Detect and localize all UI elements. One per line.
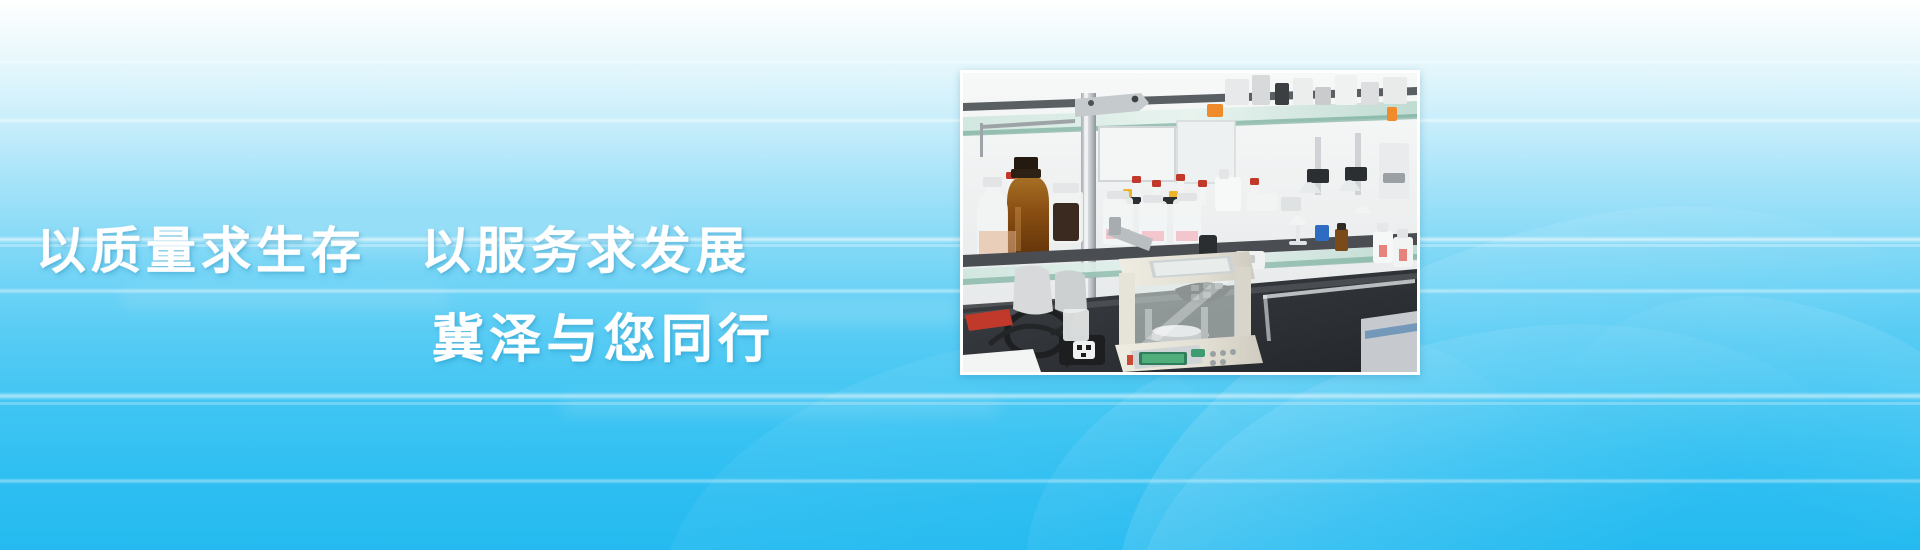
promo-banner: 以质量求生存 以服务求发展 冀泽与您同行 <box>0 0 1920 550</box>
background-stripe <box>0 392 1920 400</box>
background-glow <box>120 288 450 308</box>
slogan-line-2: 冀泽与您同行 <box>432 314 775 366</box>
background-stripe <box>0 60 1920 64</box>
background-stripe <box>0 402 1920 405</box>
background-stripe <box>0 478 1920 484</box>
laboratory-scene-illustration <box>963 73 1417 372</box>
background-wave-shape <box>1544 272 1920 550</box>
laboratory-photo-image <box>963 73 1417 372</box>
laboratory-photo <box>960 70 1420 375</box>
background-glow <box>560 395 1000 417</box>
slogan-line-1: 以质量求生存 以服务求发展 <box>36 226 751 276</box>
